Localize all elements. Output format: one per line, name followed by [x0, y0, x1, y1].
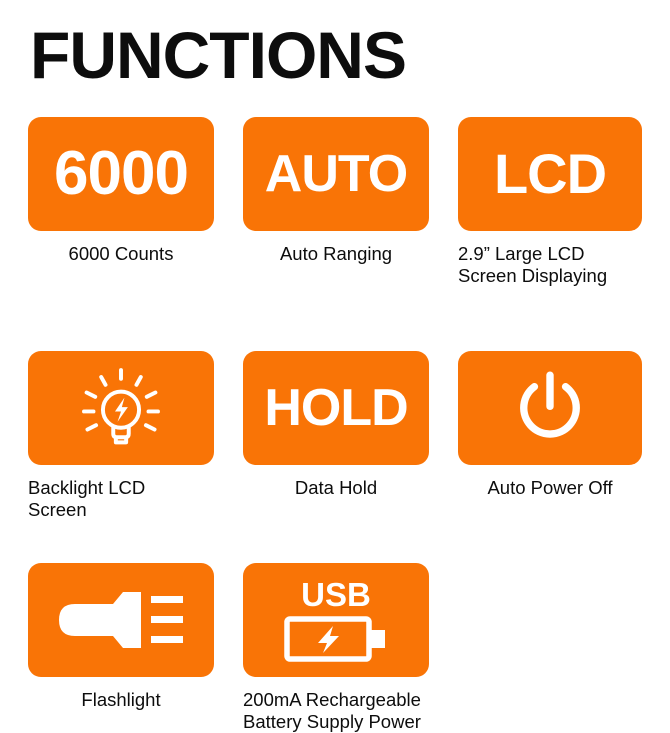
page-title: FUNCTIONS	[30, 22, 406, 88]
feature-tile-flashlight[interactable]	[28, 563, 214, 677]
grid-gap	[214, 351, 243, 521]
feature-tile-auto-power-off[interactable]	[458, 351, 642, 465]
tile-label-lcd-screen: LCD	[494, 146, 606, 202]
tile-label-auto-ranging: AUTO	[265, 148, 407, 200]
feature-caption-usb-battery: 200mA Rechargeable Battery Supply Power	[243, 689, 429, 733]
feature-caption-counts: 6000 Counts	[28, 243, 214, 265]
feature-card-counts[interactable]: 6000 6000 Counts	[28, 117, 214, 287]
feature-caption-data-hold: Data Hold	[243, 477, 429, 499]
lightbulb-bolt-icon	[78, 365, 164, 451]
feature-tile-auto-ranging[interactable]: AUTO	[243, 117, 429, 231]
feature-tile-usb-battery[interactable]: USB	[243, 563, 429, 677]
feature-card-lcd-screen[interactable]: LCD 2.9” Large LCD Screen Displaying	[458, 117, 642, 287]
power-icon	[509, 367, 591, 449]
feature-tile-lcd-screen[interactable]: LCD	[458, 117, 642, 231]
feature-caption-flashlight: Flashlight	[28, 689, 214, 711]
feature-caption-auto-power-off: Auto Power Off	[458, 477, 642, 499]
feature-card-data-hold[interactable]: HOLD Data Hold	[243, 351, 429, 521]
grid-gap	[214, 117, 243, 287]
feature-caption-lcd-screen: 2.9” Large LCD Screen Displaying	[458, 243, 642, 287]
tile-label-data-hold: HOLD	[264, 382, 407, 434]
usb-battery-stack: USB	[284, 578, 388, 663]
row-separator	[28, 287, 642, 351]
grid-gap	[429, 117, 458, 287]
battery-bolt-icon	[284, 615, 388, 663]
feature-card-auto-ranging[interactable]: AUTO Auto Ranging	[243, 117, 429, 287]
row-separator	[28, 521, 642, 563]
feature-card-auto-power-off[interactable]: Auto Power Off	[458, 351, 642, 521]
tile-label-counts: 6000	[54, 143, 188, 205]
flashlight-icon	[51, 584, 191, 656]
grid-gap	[429, 563, 458, 733]
feature-tile-backlight[interactable]	[28, 351, 214, 465]
grid-gap	[214, 563, 243, 733]
feature-caption-auto-ranging: Auto Ranging	[243, 243, 429, 265]
functions-poster: FUNCTIONS 6000 6000 Counts AUTO Auto Ran…	[0, 0, 670, 670]
feature-card-backlight[interactable]: Backlight LCD Screen	[28, 351, 214, 521]
grid-empty-cell	[458, 563, 642, 733]
grid-gap	[429, 351, 458, 521]
feature-card-usb-battery[interactable]: USB 200mA Rechargeable Battery Supply Po…	[243, 563, 429, 733]
feature-tile-counts[interactable]: 6000	[28, 117, 214, 231]
feature-card-flashlight[interactable]: Flashlight	[28, 563, 214, 733]
feature-caption-backlight: Backlight LCD Screen	[28, 477, 214, 521]
features-grid: 6000 6000 Counts AUTO Auto Ranging LCD 2…	[28, 117, 642, 733]
tile-label-usb: USB	[301, 578, 371, 611]
feature-tile-data-hold[interactable]: HOLD	[243, 351, 429, 465]
